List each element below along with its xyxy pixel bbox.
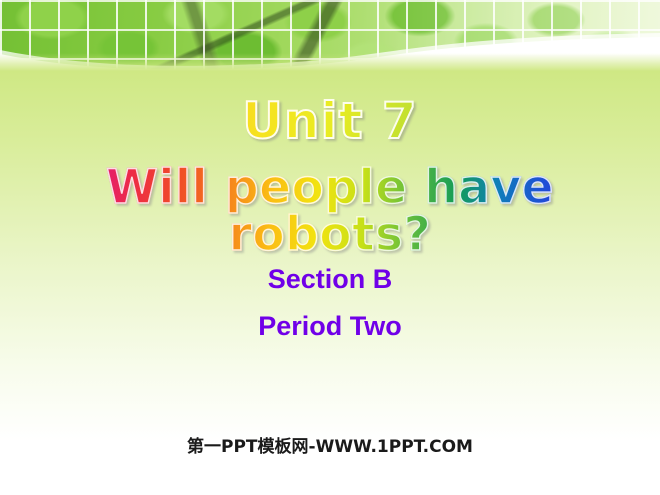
- site-watermark: 第一PPT模板网-WWW.1PPT.COM: [0, 432, 660, 457]
- presentation-slide: Unit 7 Will people have robots? Section …: [0, 0, 660, 495]
- section-label: Section B: [0, 266, 660, 293]
- period-label: Period Two: [0, 313, 660, 340]
- subtitle-group: Section B Period Two: [0, 266, 660, 340]
